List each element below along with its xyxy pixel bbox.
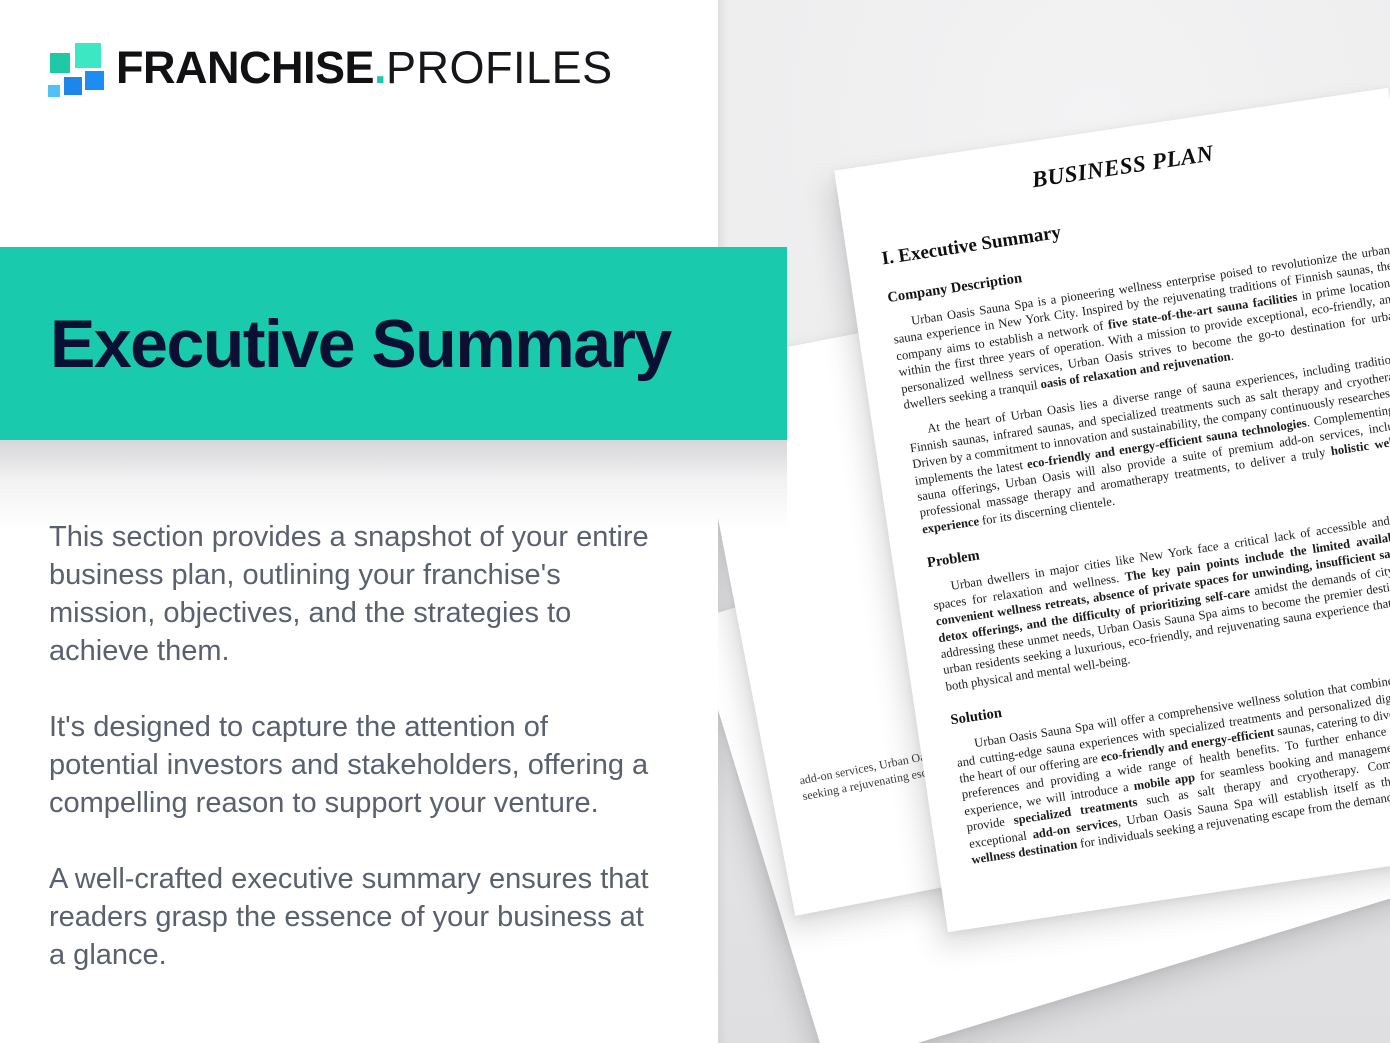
logo-word-franchise: FRANCHISE	[116, 42, 374, 93]
body-paragraph-3: A well-crafted executive summary ensures…	[49, 860, 649, 974]
slide: urban wellness destination for individua…	[0, 0, 1390, 1043]
body-paragraph-2: It's designed to capture the attention o…	[49, 708, 649, 822]
logo-square-mint	[75, 43, 101, 68]
logo-square-lightblue	[48, 85, 60, 97]
right-panel: urban wellness destination for individua…	[718, 0, 1390, 1043]
body-copy: This section provides a snapshot of your…	[49, 518, 649, 974]
document-content: BUSINESS PLAN I. Executive Summary Compa…	[872, 117, 1390, 879]
logo-word-profiles: PROFILES	[386, 42, 613, 93]
logo-square-blue-mid	[64, 77, 82, 95]
logo-square-blue-right	[85, 71, 104, 90]
document-subsection-company-description: Company Description Urban Oasis Sauna Sp…	[886, 216, 1390, 538]
document-stack: urban wellness destination for individua…	[718, 0, 1390, 1043]
logo-square-teal	[50, 53, 70, 73]
title-banner: Executive Summary	[0, 247, 787, 440]
banner-drop-shadow	[0, 440, 787, 530]
page-title: Executive Summary	[50, 305, 671, 383]
body-paragraph-1: This section provides a snapshot of your…	[49, 518, 649, 670]
logo-dot: .	[374, 42, 386, 93]
brand-logo[interactable]: FRANCHISE.PROFILES	[46, 40, 566, 102]
logo-mark-icon	[46, 40, 108, 96]
logo-wordmark: FRANCHISE.PROFILES	[116, 38, 613, 98]
